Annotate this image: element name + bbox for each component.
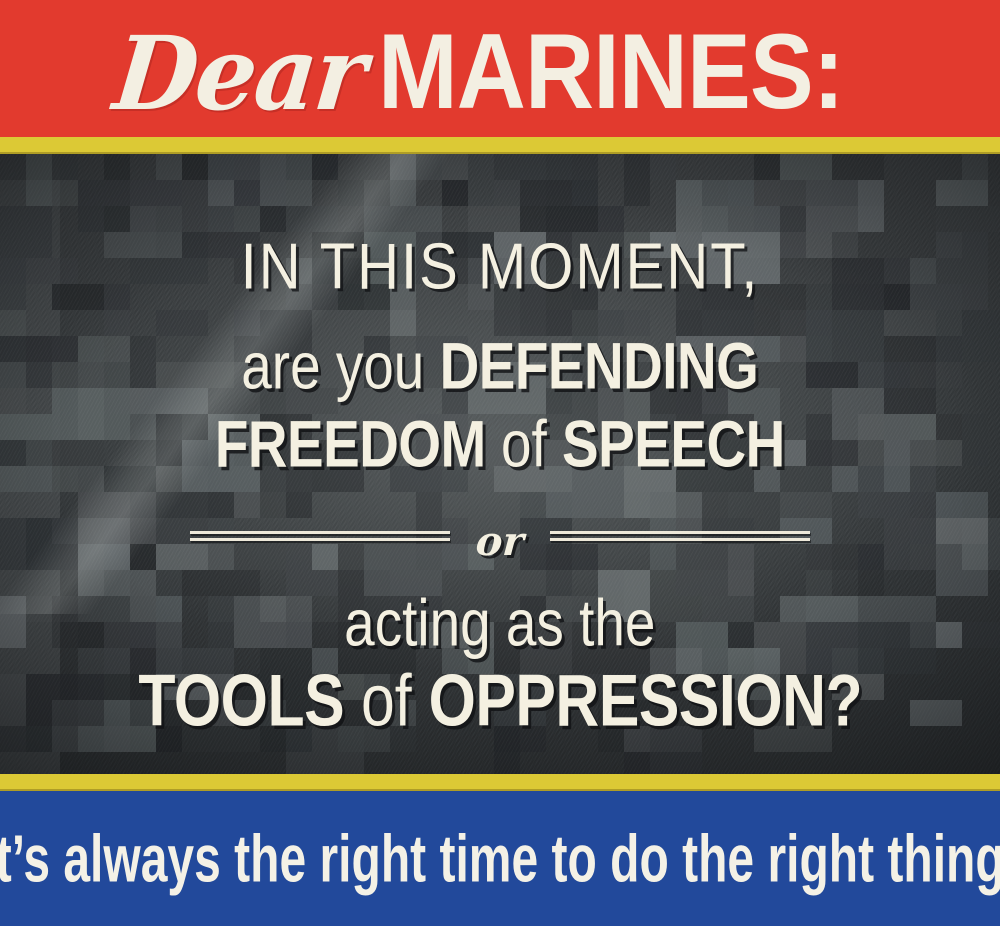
- message-line-5-heavy-end: OPPRESSION?: [428, 661, 862, 742]
- footer-band: It’s always the right time to do the rig…: [0, 791, 1000, 926]
- message-line-3-heavy-start: FREEDOM: [215, 406, 486, 480]
- message-line-3: FREEDOM of SPEECH: [215, 411, 785, 477]
- message-line-4: acting as the: [344, 590, 655, 656]
- message-line-5-heavy-start: TOOLS: [138, 661, 344, 742]
- divider-line-left: [190, 531, 450, 540]
- or-divider: or: [190, 512, 810, 559]
- message-line-2-heavy: DEFENDING: [440, 328, 759, 402]
- message-line-5-light-mid: of: [361, 661, 412, 742]
- message-line-3-light-mid: of: [501, 406, 547, 480]
- header-script-word: Dear: [109, 14, 385, 134]
- footer-tagline: It’s always the right time to do the rig…: [0, 820, 1000, 897]
- header-title: Dear MARINES:: [115, 13, 884, 132]
- divider-line-right: [550, 531, 810, 540]
- divider-rule-bottom: [0, 774, 1000, 791]
- header-bold-word: MARINES:: [378, 11, 844, 134]
- divider-or-word: or: [448, 518, 551, 565]
- message-line-3-heavy-end: SPEECH: [562, 406, 785, 480]
- poster: Dear MARINES: IN THIS MOMENT, are you DE…: [0, 0, 1000, 926]
- message-line-1: IN THIS MOMENT,: [241, 235, 760, 300]
- message-line-2-light: are you: [241, 328, 424, 402]
- message-line-5: TOOLS of OPPRESSION?: [138, 665, 862, 738]
- header-band: Dear MARINES:: [0, 0, 1000, 137]
- message-line-2: are you DEFENDING: [241, 333, 758, 399]
- divider-rule-top: [0, 137, 1000, 154]
- main-message: IN THIS MOMENT, are you DEFENDING FREEDO…: [0, 154, 1000, 774]
